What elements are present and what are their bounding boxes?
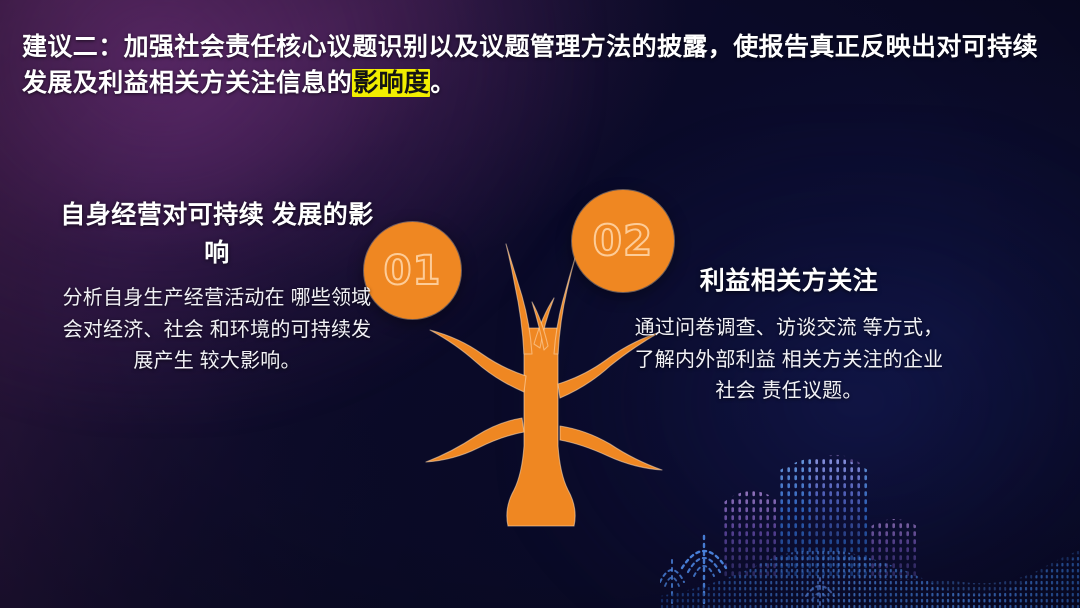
node-body-02: 通过问卷调查、访谈交流 等方式，了解内外部利益 相关方关注的企业社会 责任议题。 — [632, 313, 946, 408]
node-title-02: 利益相关方关注 — [632, 262, 946, 300]
heading-line-1: 建议二：加强社会责任核心议题识别以及议题管理方法的披露，使报告真正反映出对可 — [22, 33, 987, 61]
node-number-02: 02 — [593, 220, 653, 262]
slide-heading: 建议二：加强社会责任核心议题识别以及议题管理方法的披露，使报告真正反映出对可持续… — [22, 30, 1062, 101]
node-number-01: 01 — [384, 251, 442, 291]
node-title-01: 自身经营对可持续 发展的影响 — [58, 196, 376, 272]
slide-canvas: 建议二：加强社会责任核心议题识别以及议题管理方法的披露，使报告真正反映出对可持续… — [0, 0, 1080, 608]
node-text-block-02: 利益相关方关注 通过问卷调查、访谈交流 等方式，了解内外部利益 相关方关注的企业… — [632, 262, 946, 408]
node-circle-01[interactable]: 01 — [364, 222, 461, 319]
node-text-block-01: 自身经营对可持续 发展的影响 分析自身生产经营活动在 哪些领域会对经济、社会 和… — [58, 196, 376, 378]
heading-line-2-after: 。 — [430, 69, 455, 97]
heading-highlight: 影响度 — [352, 69, 430, 97]
node-body-01: 分析自身生产经营活动在 哪些领域会对经济、社会 和环境的可持续发展产生 较大影响… — [58, 283, 376, 378]
